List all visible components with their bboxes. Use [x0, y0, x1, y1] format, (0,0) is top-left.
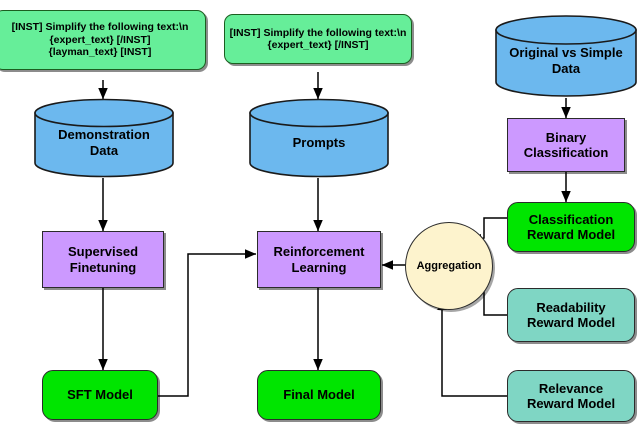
supervised-finetuning-box[interactable]: Supervised Finetuning: [42, 231, 164, 288]
sft-model-box[interactable]: SFT Model: [42, 370, 158, 420]
edge-sftmodel-rl: [158, 254, 256, 396]
prompts-label: Prompts: [248, 98, 390, 178]
binary-line-2: Classification: [524, 145, 609, 160]
classification-reward-model-box[interactable]: Classification Reward Model: [507, 202, 635, 252]
readreward-line-2: Reward Model: [527, 315, 615, 330]
demo-line-1: Demonstration: [58, 127, 150, 142]
relreward-line-1: Relevance: [539, 381, 603, 396]
sft-prompt-line-1: [INST] Simplify the following text:\n: [12, 21, 189, 33]
edge-relreward-agg: [442, 299, 507, 396]
original-vs-simple-data-label: Original vs Simple Data: [494, 14, 638, 98]
aggregation-label: Aggregation: [417, 260, 482, 272]
rl-prompt-line-1: [INST] Simplify the following text:\n: [230, 27, 407, 39]
top-clipped-strip: [0, 0, 640, 7]
original-vs-simple-data-cylinder[interactable]: Original vs Simple Data: [494, 14, 638, 98]
finalmodel-label: Final Model: [283, 387, 355, 402]
binary-classification-box[interactable]: Binary Classification: [507, 118, 625, 172]
diagram-canvas: [INST] Simplify the following text:\n {e…: [0, 0, 640, 426]
readability-reward-model-box[interactable]: Readability Reward Model: [507, 288, 635, 342]
demo-line-2: Data: [58, 143, 150, 158]
demonstration-data-cylinder[interactable]: Demonstration Data: [33, 98, 175, 178]
relevance-reward-model-box[interactable]: Relevance Reward Model: [507, 370, 635, 422]
prompts-cylinder[interactable]: Prompts: [248, 98, 390, 178]
relreward-line-2: Reward Model: [527, 396, 615, 411]
prompts-line-1: Prompts: [293, 135, 346, 150]
rl-line-1: Reinforcement: [273, 244, 364, 259]
sft-prompt-line-3: {layman_text} [INST]: [49, 46, 152, 58]
sftmodel-label: SFT Model: [67, 387, 133, 402]
clsreward-line-1: Classification: [529, 212, 614, 227]
clsreward-line-2: Reward Model: [527, 227, 615, 242]
supfine-line-2: Finetuning: [70, 260, 136, 275]
reinforcement-learning-box[interactable]: Reinforcement Learning: [257, 231, 381, 288]
binary-line-1: Binary: [546, 130, 586, 145]
rl-prompt-template-box[interactable]: [INST] Simplify the following text:\n {e…: [224, 14, 412, 64]
supfine-line-1: Supervised: [68, 244, 138, 259]
final-model-box[interactable]: Final Model: [257, 370, 381, 420]
rl-prompt-line-2: {expert_text} [/INST]: [268, 39, 369, 51]
sft-prompt-line-2: {expert_text} [/INST]: [50, 34, 151, 46]
readreward-line-1: Readability: [536, 300, 605, 315]
rl-line-2: Learning: [292, 260, 347, 275]
ovs-line-1: Original vs Simple: [509, 45, 622, 60]
demonstration-data-label: Demonstration Data: [33, 98, 175, 178]
sft-prompt-template-box[interactable]: [INST] Simplify the following text:\n {e…: [0, 10, 206, 70]
aggregation-node[interactable]: Aggregation: [405, 222, 493, 310]
ovs-line-2: Data: [509, 61, 622, 76]
